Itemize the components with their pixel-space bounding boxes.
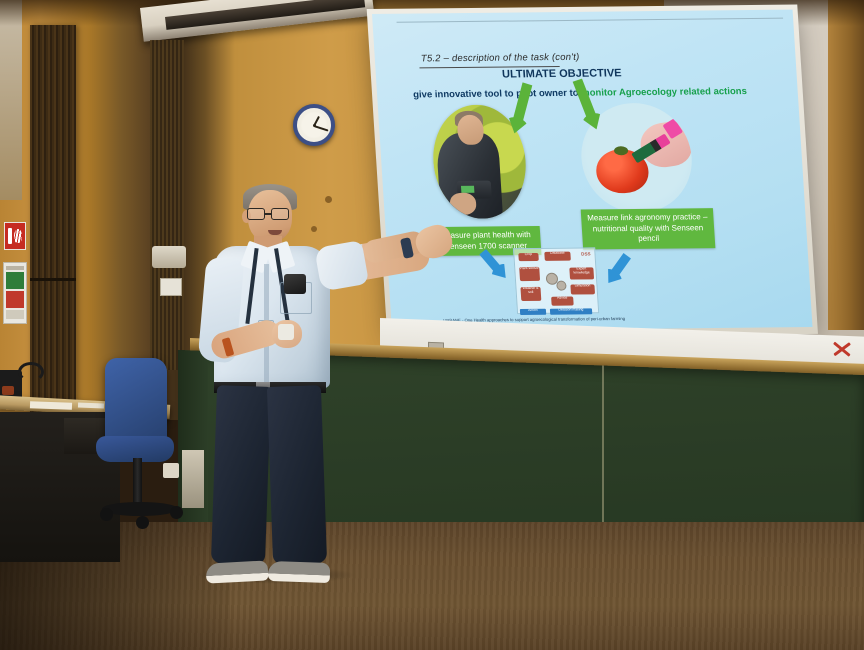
shoe-right: [268, 561, 331, 583]
dss-box-crop: Crop: [518, 253, 539, 261]
presenter-legs: [212, 386, 330, 568]
glasses-lens-left: [247, 208, 265, 220]
slide-heading: ULTIMATE OBJECTIVE: [502, 67, 622, 80]
desk-paper: [78, 403, 104, 409]
office-chair-base: [102, 502, 178, 516]
dss-diagram: DSS Crop Plant sensor Weather & soil Dat…: [513, 247, 599, 314]
presenter: [188, 186, 418, 586]
desk-paper: [30, 401, 72, 409]
dss-box-action: Action: [520, 309, 546, 315]
wall-slat-panel-inner: [150, 40, 184, 370]
wall-clock: [293, 104, 335, 146]
green-box-right: Measure link agronomy practice – nutriti…: [581, 208, 716, 249]
slide-title: T5.2 – description of the task (con't): [421, 52, 580, 65]
dss-box-simulation: Simulation: [570, 284, 595, 294]
projection-screen: T5.2 – description of the task (con't) U…: [372, 10, 813, 332]
red-x-mark-icon: [832, 341, 852, 356]
slide-top-rule: [397, 18, 784, 23]
chair-wheel: [100, 508, 113, 521]
dss-box-database: Database: [544, 252, 571, 261]
phone-in-pocket: [284, 274, 306, 294]
glasses-icon: [247, 208, 293, 220]
wood-trim-right: [828, 0, 864, 330]
desk-cable: [18, 362, 44, 382]
presentation-slide: T5.2 – description of the task (con't) U…: [372, 10, 813, 332]
dss-box-weather-soil: Weather & soil: [520, 287, 541, 301]
flame-glyph: [14, 229, 22, 243]
clock-center-pin: [313, 124, 316, 127]
trouser-leg-right: [267, 385, 327, 565]
poster-green-panel: [6, 272, 24, 289]
lecture-room-scene: T5.2 – description of the task (con't) U…: [0, 0, 864, 650]
chair-wheel: [170, 506, 183, 519]
desk-object: [2, 386, 14, 395]
slat-seam: [30, 278, 76, 281]
shoe-left: [206, 560, 269, 583]
wall-edge-left: [0, 0, 22, 200]
poster-red-panel: [6, 291, 24, 308]
glasses-bridge: [265, 213, 272, 215]
poster-footer: [6, 310, 24, 319]
glasses-lens-right: [271, 208, 289, 220]
wall-switch-plate[interactable]: [160, 278, 182, 296]
wall-mounted-device: [152, 246, 186, 268]
slide-subline-plain: give innovative tool to pilot owner to: [413, 88, 582, 101]
trouser-leg-left: [211, 385, 271, 565]
fire-extinguisher-sign: [4, 222, 26, 250]
poster-header: [6, 266, 24, 270]
extinguisher-glyph: [8, 228, 12, 244]
dss-box-decision-making: Decision making: [550, 308, 592, 314]
gear-icon: [556, 281, 567, 291]
hand-shape: [449, 193, 476, 215]
dss-title: DSS: [581, 251, 591, 256]
office-chair-back[interactable]: [105, 358, 167, 442]
power-outlet[interactable]: [163, 463, 179, 478]
dss-box-plant-sensor: Plant sensor: [519, 267, 540, 281]
presentation-clicker[interactable]: [278, 324, 294, 340]
dss-box-advice: Advice: [551, 297, 574, 306]
chair-wheel: [136, 516, 149, 529]
presenter-right-sleeve: [314, 240, 369, 292]
emergency-instructions-poster: [3, 262, 27, 324]
slide-subline-accent: monitor Agroecology related actions: [581, 86, 747, 99]
dss-box-expert-knowledge: Expert knowledge: [569, 267, 594, 279]
